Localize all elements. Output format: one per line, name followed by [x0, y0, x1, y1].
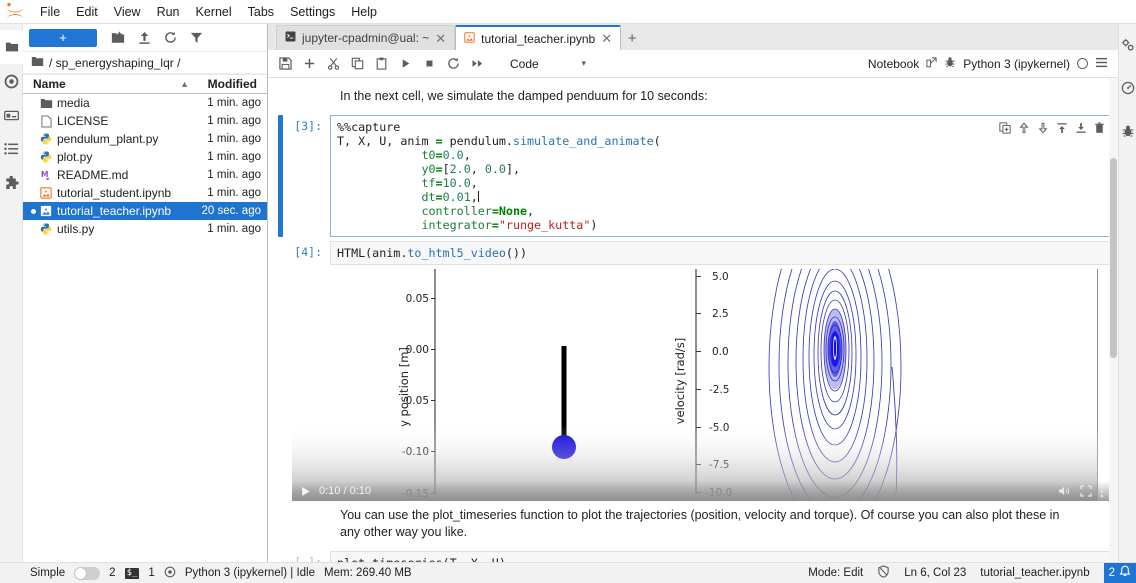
- duplicate-icon[interactable]: [997, 120, 1012, 135]
- file-name: plot.py: [55, 150, 185, 164]
- file-name: pendulum_plant.py: [55, 132, 185, 146]
- kernel-status-icon[interactable]: [1077, 58, 1088, 69]
- code-cell-4[interactable]: [4]: HTML(anim.to_html5_video()): [278, 241, 1112, 265]
- cell-prompt-4: [4]:: [278, 241, 330, 265]
- svg-text:0.0: 0.0: [712, 346, 729, 358]
- restart-icon[interactable]: [442, 53, 464, 75]
- notebook-toolbar: Code ▾ Notebook Python 3 (ipykernel): [268, 50, 1118, 78]
- bell-icon: [1119, 565, 1131, 581]
- main-dock-area: jupyter-cpadmin@ual: ~ ✕ tutorial_teache…: [268, 24, 1118, 562]
- jupyterlab-window: File Edit View Run Kernel Tabs Settings …: [0, 0, 1136, 583]
- code-cell-3[interactable]: [3]: %%capture T, X, U, anim = pendulum.…: [278, 115, 1112, 237]
- python-icon: [37, 133, 55, 145]
- file-icon: [37, 115, 55, 128]
- video-canvas: 0.05 0.00 -0.05 -0.10 -0.15: [292, 269, 1112, 501]
- kernel-count[interactable]: 2: [109, 567, 115, 579]
- chevron-down-icon: ▾: [581, 58, 586, 69]
- file-modified: 1 min. ago: [185, 151, 261, 163]
- running-indicator-dot: [29, 209, 37, 214]
- code-text-post: ()): [506, 246, 527, 260]
- kebab-menu-icon[interactable]: [1100, 485, 1104, 498]
- markdown-cell-intro[interactable]: In the next cell, we simulate the damped…: [268, 82, 1118, 111]
- file-list: media 1 min. ago LICENSE 1 min. ago pend…: [23, 94, 267, 562]
- menu-view[interactable]: View: [106, 1, 149, 23]
- notebook-scrollbar[interactable]: [1109, 78, 1118, 562]
- markdown-icon: M: [37, 169, 55, 181]
- active-cell-indicator: [278, 115, 283, 237]
- animation-figure: 0.05 0.00 -0.05 -0.10 -0.15: [292, 269, 1098, 501]
- code-editor-5[interactable]: plot_timeseries(T, X, U): [330, 551, 1112, 562]
- markdown-cell-plot-hint[interactable]: You can use the plot_timeseries function…: [268, 501, 1118, 547]
- tab-notebook-tutorial-teacher[interactable]: tutorial_teacher.ipynb ✕: [455, 25, 621, 50]
- cell-toolbar-3: [994, 118, 1110, 137]
- notification-center[interactable]: 2: [1104, 563, 1136, 583]
- external-link-icon[interactable]: [926, 57, 937, 71]
- volume-icon[interactable]: [1058, 485, 1072, 497]
- breadcrumb-home-icon[interactable]: [31, 56, 44, 70]
- save-icon[interactable]: [274, 53, 296, 75]
- sort-caret-icon: ▲: [180, 79, 189, 89]
- menu-tabs[interactable]: Tabs: [240, 1, 282, 23]
- python-icon: [37, 223, 55, 235]
- property-inspector-icon[interactable]: [1121, 38, 1135, 55]
- file-modified: 1 min. ago: [185, 115, 261, 127]
- close-icon[interactable]: ✕: [601, 33, 612, 44]
- file-modified: 1 min. ago: [185, 133, 261, 145]
- right-activity-bar: [1118, 24, 1136, 562]
- file-name: media: [55, 96, 185, 110]
- svg-text:-2.5: -2.5: [709, 384, 730, 396]
- terminal-icon: [285, 31, 296, 45]
- left-activity-bar: [0, 24, 23, 562]
- file-modified: 1 min. ago: [185, 187, 261, 199]
- copy-icon[interactable]: [346, 53, 368, 75]
- file-name: README.md: [55, 168, 185, 182]
- breadcrumb[interactable]: / sp_energyshaping_lqr /: [23, 52, 267, 74]
- notification-count: 2: [1109, 567, 1115, 579]
- column-header-name[interactable]: Name: [29, 77, 180, 91]
- svg-text:2.5: 2.5: [712, 308, 729, 320]
- svg-text:velocity [rad/s]: velocity [rad/s]: [673, 338, 687, 425]
- file-list-header: Name ▲ Modified: [23, 74, 267, 94]
- kernel-status-text[interactable]: Python 3 (ipykernel) | Idle: [185, 567, 315, 579]
- cell-prompt-5: [ ]:: [278, 551, 330, 562]
- editor-mode: Mode: Edit: [808, 567, 863, 579]
- upload-icon[interactable]: [133, 28, 155, 48]
- scrollbar-thumb[interactable]: [1110, 158, 1117, 358]
- hamburger-icon[interactable]: [1095, 57, 1108, 71]
- kernel-name[interactable]: Python 3 (ipykernel): [963, 57, 1070, 71]
- file-name: tutorial_teacher.ipynb: [55, 204, 185, 218]
- insert-below-icon[interactable]: [1073, 120, 1088, 135]
- fast-forward-icon[interactable]: [466, 53, 488, 75]
- sidebar-item-file-browser[interactable]: [0, 30, 23, 64]
- menu-bar: File Edit View Run Kernel Tabs Settings …: [0, 0, 1136, 24]
- shield-icon[interactable]: [877, 565, 890, 581]
- paste-icon[interactable]: [370, 53, 392, 75]
- gauge-icon[interactable]: [1121, 81, 1135, 98]
- file-browser-toolbar: +: [23, 24, 267, 52]
- new-folder-icon[interactable]: [107, 28, 129, 48]
- file-row-license[interactable]: LICENSE 1 min. ago: [23, 112, 267, 130]
- column-header-modified[interactable]: Modified: [189, 77, 261, 91]
- menu-kernel[interactable]: Kernel: [188, 1, 240, 23]
- notebook-scroll-area[interactable]: In the next cell, we simulate the damped…: [268, 78, 1118, 562]
- file-name: LICENSE: [55, 114, 185, 128]
- code-text-pre: HTML(anim.: [337, 246, 407, 260]
- status-filename: tutorial_teacher.ipynb: [980, 567, 1089, 579]
- file-row-readme-md[interactable]: M README.md 1 min. ago: [23, 166, 267, 184]
- video-control-bar[interactable]: 0:10 / 0:10: [292, 481, 1112, 501]
- folder-icon: [37, 98, 55, 109]
- html5-video-player[interactable]: 0.05 0.00 -0.05 -0.10 -0.15: [278, 269, 1112, 501]
- memory-usage: Mem: 269.40 MB: [324, 567, 412, 579]
- file-modified: 1 min. ago: [185, 97, 261, 109]
- insert-above-icon[interactable]: [1054, 120, 1069, 135]
- file-row-plot-py[interactable]: plot.py 1 min. ago: [23, 148, 267, 166]
- file-row-tutorial-student-ipynb[interactable]: tutorial_student.ipynb 1 min. ago: [23, 184, 267, 202]
- tab-terminal[interactable]: jupyter-cpadmin@ual: ~ ✕: [276, 25, 455, 50]
- status-bar-right: Mode: Edit Ln 6, Col 23 tutorial_teacher…: [808, 563, 1130, 583]
- jupyter-logo-icon: [4, 2, 26, 22]
- cell-indicator: [278, 241, 283, 265]
- trash-icon[interactable]: [1092, 120, 1107, 135]
- kernel-badge-icon[interactable]: [164, 566, 176, 581]
- cell-type-value: Code: [510, 57, 539, 71]
- breadcrumb-path: / sp_energyshaping_lqr /: [49, 56, 180, 70]
- notebook-icon: [37, 187, 55, 199]
- file-modified: 1 min. ago: [185, 169, 261, 181]
- notebook-icon: [464, 32, 475, 46]
- arrow-down-icon[interactable]: [1035, 120, 1050, 135]
- new-launcher-button[interactable]: +: [29, 29, 97, 47]
- code-cell-5[interactable]: [ ]: plot_timeseries(T, X, U): [278, 551, 1112, 562]
- sidebar-item-running[interactable]: [0, 64, 23, 98]
- fullscreen-icon[interactable]: [1080, 485, 1092, 497]
- sidebar-item-command-palette[interactable]: [0, 98, 23, 132]
- terminal-icon[interactable]: $_: [125, 568, 140, 579]
- file-modified: 20 sec. ago: [185, 205, 261, 217]
- svg-text:0.05: 0.05: [406, 293, 429, 305]
- cell-indicator: [278, 551, 283, 562]
- run-icon[interactable]: [394, 53, 416, 75]
- svg-text:M: M: [41, 170, 49, 179]
- status-bar: Simple 2 $_ 1 Python 3 (ipykernel) | Idl…: [0, 562, 1136, 583]
- play-icon[interactable]: [300, 486, 311, 497]
- arrow-up-icon[interactable]: [1016, 120, 1031, 135]
- sidebar-item-table-of-contents[interactable]: [0, 132, 23, 166]
- svg-text:5.0: 5.0: [712, 271, 729, 283]
- menu-file[interactable]: File: [32, 1, 68, 23]
- file-row-utils-py[interactable]: utils.py 1 min. ago: [23, 220, 267, 238]
- close-icon[interactable]: ✕: [435, 33, 446, 44]
- file-browser-panel: + / sp_energyshaping_lqr /: [23, 24, 268, 562]
- code-text-function: to_html5_video: [407, 246, 506, 260]
- refresh-icon[interactable]: [159, 28, 181, 48]
- tab-bar: jupyter-cpadmin@ual: ~ ✕ tutorial_teache…: [268, 24, 1118, 50]
- notebook-toolbar-right: Notebook Python 3 (ipykernel): [868, 56, 1112, 71]
- code-editor-4[interactable]: HTML(anim.to_html5_video()): [330, 241, 1112, 265]
- workspace-row: + / sp_energyshaping_lqr /: [0, 24, 1136, 562]
- file-modified: 1 min. ago: [185, 223, 261, 235]
- simple-mode-label: Simple: [30, 567, 65, 579]
- cursor-position[interactable]: Ln 6, Col 23: [904, 567, 966, 579]
- cell-output-video-container: 0.05 0.00 -0.05 -0.10 -0.15: [278, 269, 1112, 501]
- menu-help[interactable]: Help: [343, 1, 385, 23]
- stop-icon[interactable]: [418, 53, 440, 75]
- sidebar-item-extension-manager[interactable]: [0, 166, 23, 200]
- cell-prompt-3: [3]:: [278, 115, 330, 237]
- add-icon[interactable]: [298, 53, 320, 75]
- menu-settings[interactable]: Settings: [282, 1, 343, 23]
- cut-icon[interactable]: [322, 53, 344, 75]
- svg-text:y position [m]: y position [m]: [397, 347, 411, 427]
- bug-icon[interactable]: [1121, 124, 1135, 141]
- trajectory-blob: [824, 309, 846, 389]
- python-icon: [37, 151, 55, 163]
- file-name: utils.py: [55, 222, 185, 236]
- tab-label: tutorial_teacher.ipynb: [481, 32, 595, 46]
- notebook-label: Notebook: [868, 57, 919, 71]
- notebook-icon: [37, 205, 55, 217]
- new-tab-button[interactable]: +: [621, 26, 643, 50]
- simple-mode-toggle[interactable]: [74, 567, 100, 580]
- cell-type-dropdown[interactable]: Code ▾: [506, 54, 590, 74]
- filter-icon[interactable]: [185, 28, 207, 48]
- file-name: tutorial_student.ipynb: [55, 186, 185, 200]
- menu-run[interactable]: Run: [149, 1, 188, 23]
- menu-edit[interactable]: Edit: [68, 1, 106, 23]
- bug-icon[interactable]: [944, 56, 956, 71]
- file-row-media[interactable]: media 1 min. ago: [23, 94, 267, 112]
- terminal-count[interactable]: 1: [148, 567, 154, 579]
- tab-label: jupyter-cpadmin@ual: ~: [302, 31, 429, 45]
- status-bar-left: Simple 2 $_ 1 Python 3 (ipykernel) | Idl…: [6, 566, 412, 581]
- file-row-pendulum-plant-py[interactable]: pendulum_plant.py 1 min. ago: [23, 130, 267, 148]
- video-time-display: 0:10 / 0:10: [319, 485, 371, 497]
- file-row-tutorial-teacher-ipynb[interactable]: tutorial_teacher.ipynb 20 sec. ago: [23, 202, 267, 220]
